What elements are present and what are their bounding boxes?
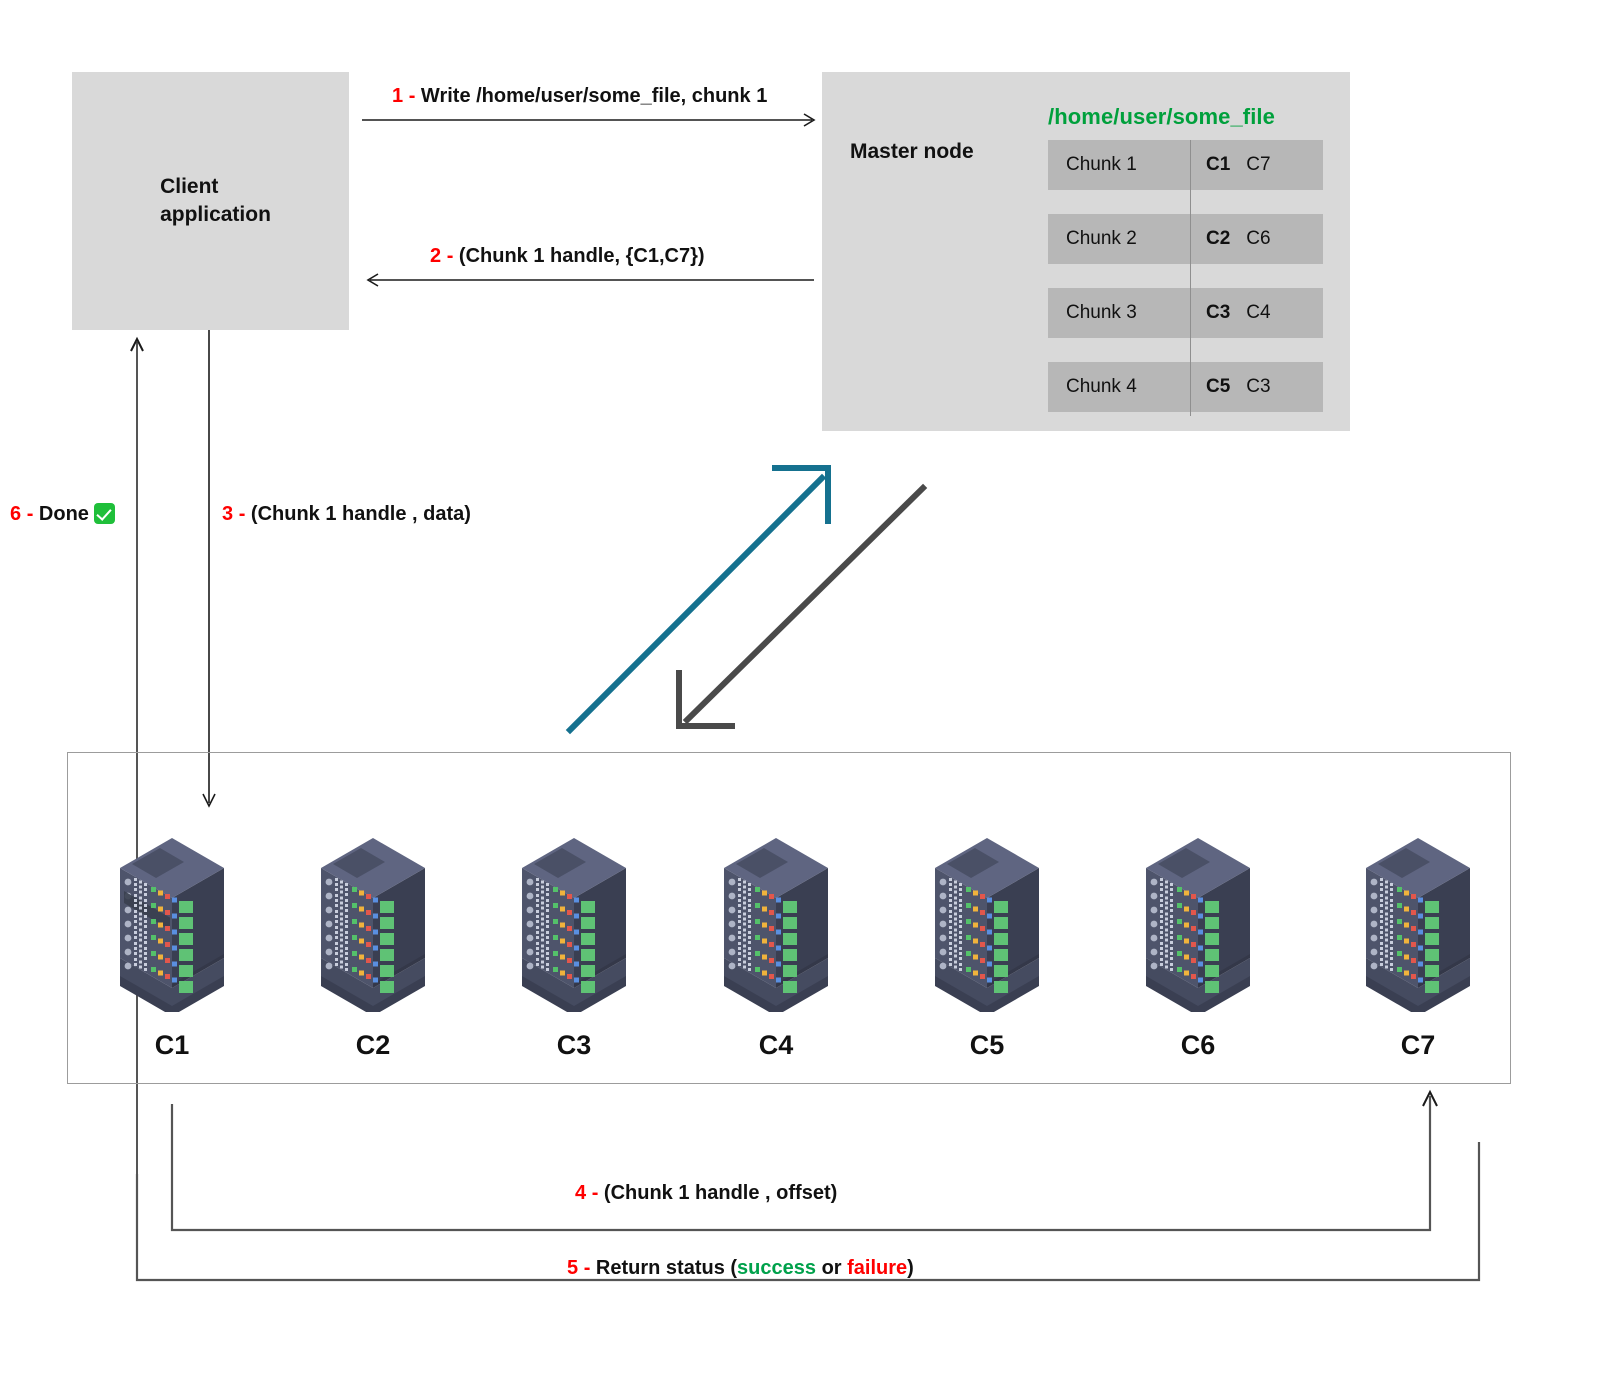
chunk-name: Chunk 3 xyxy=(1048,302,1190,324)
secondary-replica: C7 xyxy=(1246,154,1270,176)
server-rack-icon xyxy=(299,824,447,1012)
step-5-dash: - xyxy=(584,1257,591,1279)
chunkserver-label-C7: C7 xyxy=(1344,1030,1492,1061)
chunkserver-C3[interactable] xyxy=(500,824,648,1017)
chunkserver-C1[interactable] xyxy=(98,824,246,1017)
master-node-label: Master node xyxy=(850,140,974,164)
server-rack-icon xyxy=(1124,824,1272,1012)
server-rack-icon xyxy=(1344,824,1492,1012)
table-row: Chunk 1 C1 C7 xyxy=(1048,140,1323,190)
secondary-replica: C6 xyxy=(1246,228,1270,250)
primary-replica: C2 xyxy=(1206,228,1230,250)
step-3-arrow xyxy=(200,330,218,812)
chunk-name: Chunk 4 xyxy=(1048,376,1190,398)
client-application-box: Client application xyxy=(72,72,349,330)
step-5-success: success xyxy=(737,1257,816,1279)
step-6-number: 6 xyxy=(10,503,21,525)
chunkserver-label-C3: C3 xyxy=(500,1030,648,1061)
table-row: Chunk 4 C5 C3 xyxy=(1048,362,1323,412)
chunkserver-label-C2: C2 xyxy=(299,1030,447,1061)
step-1-label: 1 - Write /home/user/some_file, chunk 1 xyxy=(392,85,767,108)
server-rack-icon xyxy=(500,824,648,1012)
step-5-label: 5 - Return status (success or failure) xyxy=(567,1257,914,1280)
step-1-dash: - xyxy=(409,85,416,107)
chunk-replicas: C2 C6 xyxy=(1190,228,1323,250)
chunk-location-table: Chunk 1 C1 C7 Chunk 2 C2 C6 Chunk 3 C3 C… xyxy=(1048,140,1323,436)
chunk-name: Chunk 1 xyxy=(1048,154,1190,176)
chunkserver-C7[interactable] xyxy=(1344,824,1492,1017)
ack-arrow-icon xyxy=(665,480,935,740)
chunkserver-C6[interactable] xyxy=(1124,824,1272,1017)
step-6-text: Done xyxy=(39,503,89,525)
step-5-prefix: Return status ( xyxy=(596,1257,737,1279)
step-6-label: 6 - Done xyxy=(10,503,115,526)
step-5-middle: or xyxy=(816,1257,847,1279)
chunk-replicas: C3 C4 xyxy=(1190,302,1323,324)
step-2-label: 2 - (Chunk 1 handle, {C1,C7}) xyxy=(430,245,705,268)
table-row: Chunk 2 C2 C6 xyxy=(1048,214,1323,264)
chunkserver-C4[interactable] xyxy=(702,824,850,1017)
server-rack-icon xyxy=(913,824,1061,1012)
step-3-number: 3 xyxy=(222,503,233,525)
primary-replica: C1 xyxy=(1206,154,1230,176)
primary-replica: C3 xyxy=(1206,302,1230,324)
table-row: Chunk 3 C3 C4 xyxy=(1048,288,1323,338)
chunkserver-label-C1: C1 xyxy=(98,1030,246,1061)
secondary-replica: C3 xyxy=(1246,376,1270,398)
chunkserver-C2[interactable] xyxy=(299,824,447,1017)
step-5-suffix: ) xyxy=(907,1257,914,1279)
step-5-failure: failure xyxy=(847,1257,907,1279)
client-application-label: Client application xyxy=(150,173,271,230)
chunk-replicas: C5 C3 xyxy=(1190,376,1323,398)
chunk-replicas: C1 C7 xyxy=(1190,154,1323,176)
secondary-replica: C4 xyxy=(1246,302,1270,324)
step-2-text: (Chunk 1 handle, {C1,C7}) xyxy=(459,245,705,267)
step-3-text: (Chunk 1 handle , data) xyxy=(251,503,471,525)
primary-replica: C5 xyxy=(1206,376,1230,398)
step-1-number: 1 xyxy=(392,85,403,107)
chunkserver-C5[interactable] xyxy=(913,824,1061,1017)
chunk-name: Chunk 2 xyxy=(1048,228,1190,250)
step-2-number: 2 xyxy=(430,245,441,267)
step-1-text: Write /home/user/some_file, chunk 1 xyxy=(421,85,767,107)
chunkserver-label-C6: C6 xyxy=(1124,1030,1272,1061)
step-3-label: 3 - (Chunk 1 handle , data) xyxy=(222,503,471,526)
step-2-dash: - xyxy=(447,245,454,267)
file-path-label: /home/user/some_file xyxy=(1048,104,1275,130)
step-1-arrow xyxy=(362,112,822,128)
table-column-divider xyxy=(1190,140,1191,416)
chunkserver-label-C4: C4 xyxy=(702,1030,850,1061)
master-node-box: Master node /home/user/some_file Chunk 1… xyxy=(822,72,1350,431)
step-2-arrow xyxy=(362,272,822,288)
chunkserver-label-C5: C5 xyxy=(913,1030,1061,1061)
server-rack-icon xyxy=(98,824,246,1012)
step-5-number: 5 xyxy=(567,1257,578,1279)
step-6-dash: - xyxy=(27,503,34,525)
server-rack-icon xyxy=(702,824,850,1012)
diagram-canvas: Client application Master node /home/use… xyxy=(0,0,1600,1399)
done-check-icon xyxy=(94,503,115,524)
step-3-dash: - xyxy=(239,503,246,525)
